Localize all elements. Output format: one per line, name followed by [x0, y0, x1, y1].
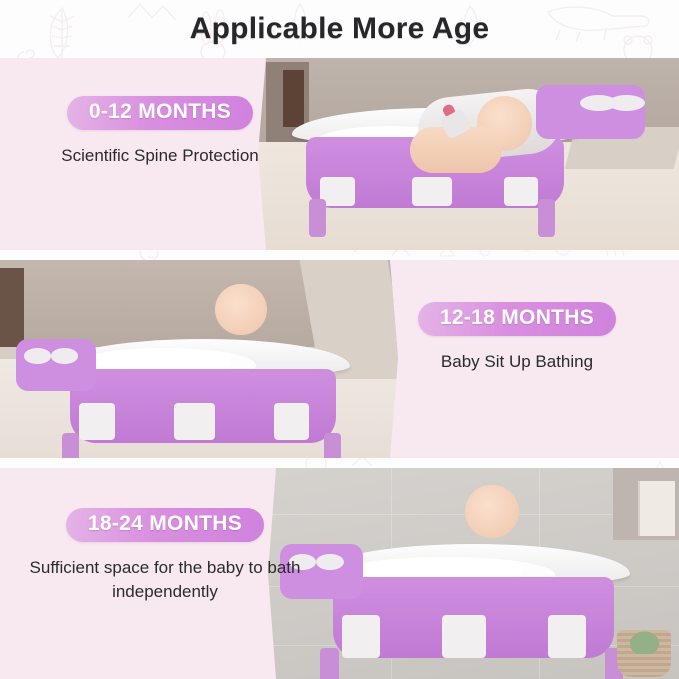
- age-badge: 12-18 MONTHS: [418, 302, 616, 336]
- succulent-plant: [626, 628, 663, 653]
- panel-18-24-months: 18-24 MONTHS Sufficient space for the ba…: [0, 468, 679, 679]
- age-badge: 18-24 MONTHS: [66, 508, 264, 542]
- bathtub-product: [56, 339, 351, 454]
- age-badge: 0-12 MONTHS: [67, 96, 253, 130]
- panel-text-block: 0-12 MONTHS Scientific Spine Protection: [0, 96, 320, 169]
- scene-room: [0, 260, 398, 458]
- page-title: Applicable More Age: [190, 12, 489, 46]
- panel-caption: Baby Sit Up Bathing: [355, 350, 679, 375]
- panel-caption: Scientific Spine Protection: [0, 144, 320, 169]
- bathtub-thermometer-head: [536, 85, 645, 139]
- infographic-page: Applicable More Age: [0, 0, 679, 679]
- panel-photo: [0, 260, 398, 458]
- panel-12-18-months: 12-18 MONTHS Baby Sit Up Bathing: [0, 260, 679, 458]
- scene-nursery: [258, 58, 679, 250]
- header: Applicable More Age: [0, 0, 679, 58]
- bathtub-product: [317, 544, 629, 671]
- panel-text-block: 12-18 MONTHS Baby Sit Up Bathing: [355, 302, 679, 375]
- bathtub-thermometer-head: [16, 339, 96, 390]
- panel-0-12-months: 0-12 MONTHS Scientific Spine Protection: [0, 58, 679, 250]
- panel-caption: Sufficient space for the baby to bath in…: [0, 556, 330, 604]
- panel-text-block: 18-24 MONTHS Sufficient space for the ba…: [0, 508, 330, 604]
- panel-photo: [258, 58, 679, 250]
